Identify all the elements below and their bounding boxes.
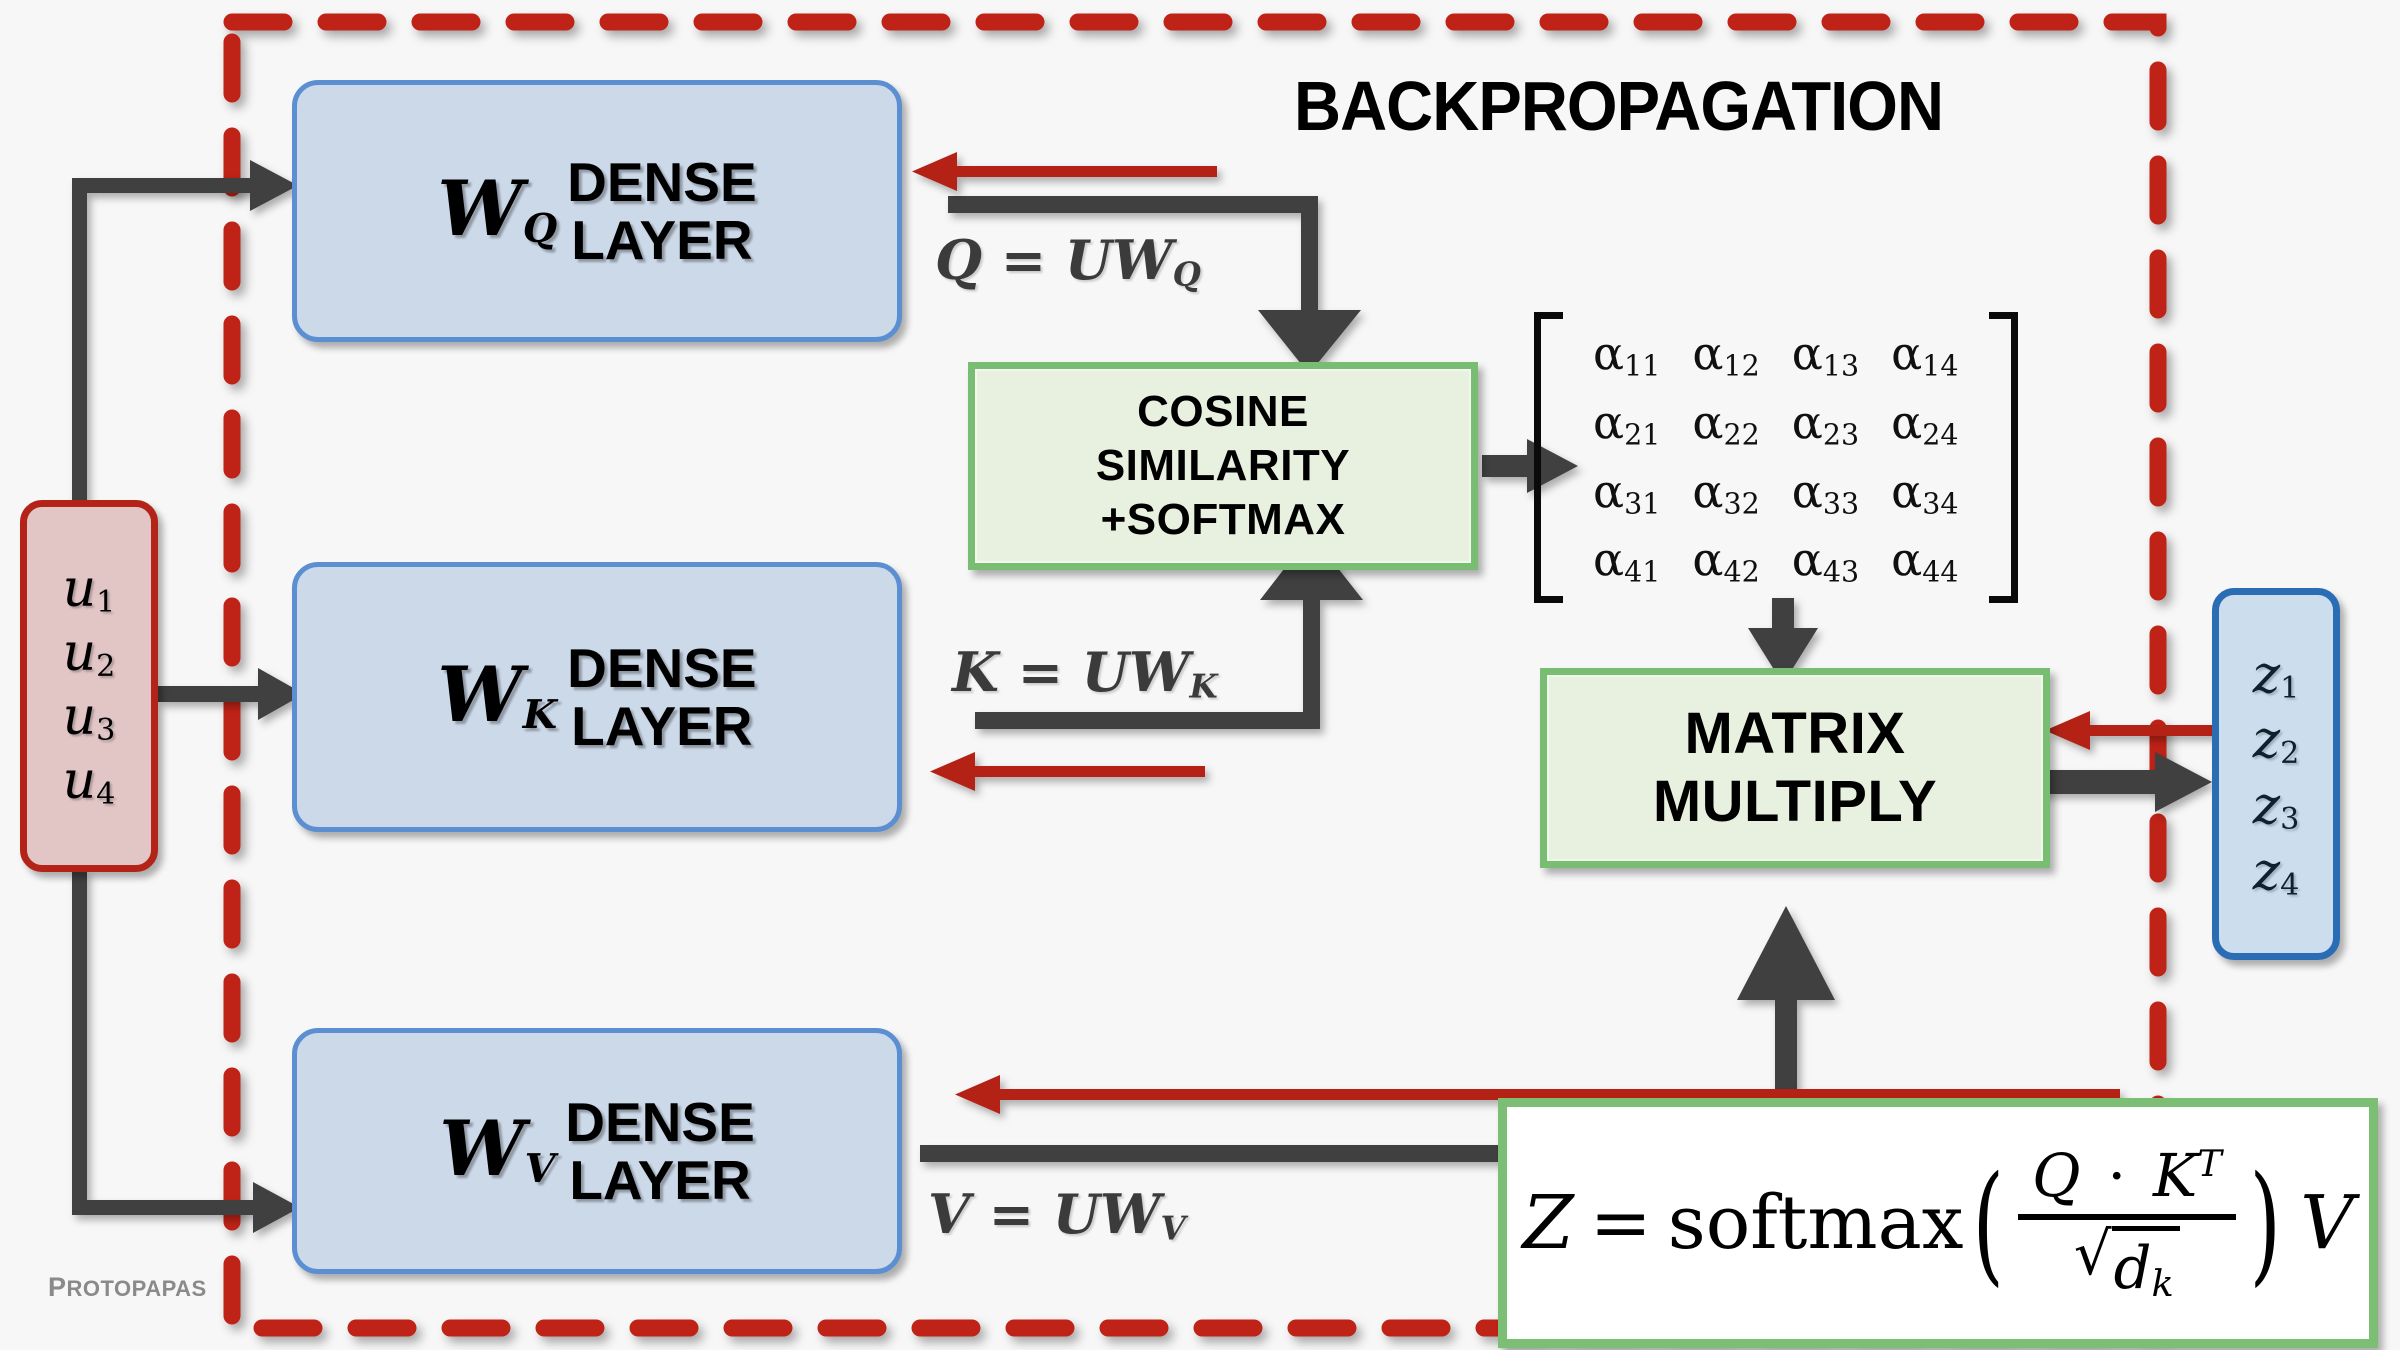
u-item-2: u2	[63, 622, 116, 686]
matrix-cell: α33	[1776, 458, 1875, 527]
matrix-cell: α32	[1676, 458, 1775, 527]
diagram-canvas: BACKPROPAGATION u1 u2 u3 u4 WQ DENSE LAY…	[0, 0, 2400, 1350]
matrix-cell: α21	[1577, 389, 1676, 458]
weight-label-wq: WQ	[437, 175, 557, 248]
matrix-grid: α11 α12 α13 α14 α21 α22 α23 α24 α31 α32 …	[1563, 312, 1989, 603]
matrix-cell: α31	[1577, 458, 1676, 527]
footer-attribution: PROTOPAPAS	[48, 1272, 207, 1303]
matrix-cell: α22	[1676, 389, 1775, 458]
z-eq-numerator: Q · KT	[2018, 1141, 2236, 1214]
z-eq-lhs: Z	[1522, 1180, 1573, 1266]
matrix-cell: α42	[1676, 526, 1775, 595]
matrix-cell: α41	[1577, 526, 1676, 595]
matrix-cell: α34	[1875, 458, 1974, 527]
matrix-cell: α43	[1776, 526, 1875, 595]
z-eq-denominator: √dk	[2060, 1220, 2194, 1305]
weight-label-wv: WV	[439, 1115, 555, 1188]
dense-layer-wk-label: DENSE LAYER	[567, 639, 757, 756]
sqrt-symbol: √dk	[2074, 1226, 2180, 1305]
matrix-cell: α11	[1577, 320, 1676, 389]
matrix-cell: α24	[1875, 389, 1974, 458]
dense-layer-wq-label: DENSE LAYER	[567, 153, 757, 270]
matrix-cell: α14	[1875, 320, 1974, 389]
attention-matrix: α11 α12 α13 α14 α21 α22 α23 α24 α31 α32 …	[1534, 312, 2018, 603]
z-eq-fraction: Q · KT √dk	[2018, 1141, 2236, 1305]
matrix-cell: α44	[1875, 526, 1974, 595]
z-equation-box: Z = softmax ( Q · KT √dk ) V	[1498, 1098, 2378, 1348]
right-paren: )	[2249, 1173, 2280, 1274]
z-equation: Z = softmax ( Q · KT √dk ) V	[1522, 1141, 2353, 1305]
matrix-multiply-box[interactable]: MATRIX MULTIPLY	[1540, 668, 2050, 868]
z-item-1: z1	[2253, 643, 2300, 709]
label-q-equation: Q = UWQ	[935, 228, 1201, 293]
z-eq-trailing-v: V	[2300, 1180, 2353, 1266]
label-v-equation: V = UWV	[928, 1182, 1186, 1247]
footer-name: ROTOPAPAS	[67, 1276, 207, 1301]
z-item-4: z4	[2253, 840, 2300, 906]
weight-label-wk: WK	[437, 661, 557, 734]
dense-layer-wv[interactable]: WV DENSE LAYER	[292, 1028, 902, 1274]
z-eq-equals: =	[1590, 1180, 1652, 1266]
dense-layer-wk[interactable]: WK DENSE LAYER	[292, 562, 902, 832]
matrix-cell: α13	[1776, 320, 1875, 389]
cosine-similarity-label: COSINE SIMILARITY +SOFTMAX	[1096, 385, 1350, 546]
z-item-2: z2	[2253, 708, 2300, 774]
output-vector-z: z1 z2 z3 z4	[2212, 588, 2340, 960]
u-item-4: u4	[63, 750, 116, 814]
u-item-3: u3	[63, 686, 116, 750]
z-eq-softmax: softmax	[1668, 1180, 1964, 1266]
matrix-bracket-left	[1534, 312, 1563, 603]
backprop-arrows	[912, 152, 2230, 1114]
backpropagation-title: BACKPROPAGATION	[1294, 66, 1943, 146]
footer-initial: P	[48, 1272, 67, 1302]
u-item-1: u1	[63, 558, 116, 622]
matrix-multiply-label: MATRIX MULTIPLY	[1653, 700, 1937, 837]
cosine-similarity-softmax-box[interactable]: COSINE SIMILARITY +SOFTMAX	[968, 362, 1478, 570]
left-paren: (	[1973, 1173, 2004, 1274]
dense-layer-wv-label: DENSE LAYER	[565, 1093, 755, 1210]
label-k-equation: K = UWK	[952, 640, 1218, 705]
z-item-3: z3	[2253, 774, 2300, 840]
matrix-cell: α12	[1676, 320, 1775, 389]
dense-layer-wq[interactable]: WQ DENSE LAYER	[292, 80, 902, 342]
input-vector-u: u1 u2 u3 u4	[20, 500, 158, 872]
matrix-bracket-right	[1989, 312, 2018, 603]
matrix-cell: α23	[1776, 389, 1875, 458]
